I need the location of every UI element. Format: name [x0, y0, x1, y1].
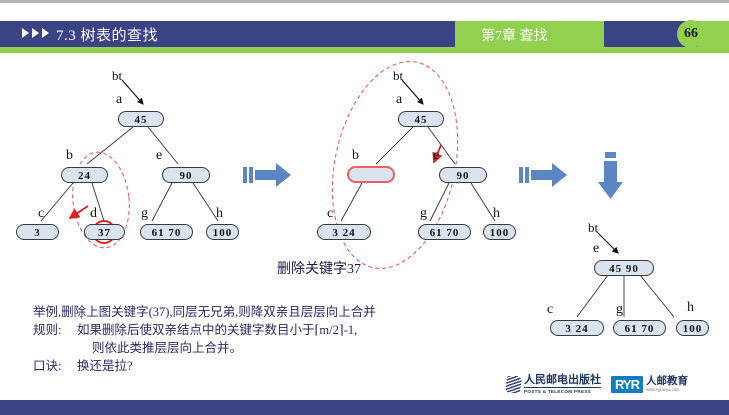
notes-example-text: 删除上图关键字(37),同层无兄弟,则降双亲且层层向上合并: [61, 305, 376, 319]
tree-middle-node-a: 45: [398, 111, 444, 127]
notes-rule-label: 规则:: [33, 321, 77, 339]
publisher-logo: 人民邮电出版社 POSTS & TELECOM PRESS: [506, 375, 601, 394]
page-title: 7.3 树表的查找: [56, 24, 158, 45]
notes-mnemonic-label: 口诀:: [33, 357, 77, 375]
tree-after-node-h: 100: [676, 320, 709, 336]
step-arrow-3: [598, 152, 623, 199]
notes-mnemonic-text: 换还是拉?: [77, 359, 133, 373]
page-number-badge: 66: [677, 20, 705, 48]
tree-before-node-label-h: h: [216, 206, 223, 222]
notes-example-label: 举例,: [33, 305, 61, 319]
notes-rule-text-1: 如果删除后使双亲结点中的关键字数目小于⌈m/2⌉-1,: [77, 323, 357, 337]
tree-after-pointer-label: bt: [588, 220, 598, 236]
right-triangle-icon: [22, 28, 29, 38]
tree-middle-node-g: 61 70: [418, 224, 471, 240]
bottom-bar: [0, 400, 729, 415]
tree-middle-pointer-label: bt: [393, 68, 403, 84]
tree-before-node-g: 61 70: [140, 224, 193, 240]
tree-before-node-b: 24: [61, 167, 108, 183]
notes-block: 举例,删除上图关键字(37),同层无兄弟,则降双亲且层层向上合并 规则:如果删除…: [33, 303, 503, 375]
tree-before-node-h: 100: [206, 224, 239, 240]
tree-after-node-label-g: g: [616, 302, 623, 318]
tree-middle-node-label-g: g: [420, 206, 427, 222]
tree-middle-node-label-c: c: [327, 206, 333, 222]
tree-after-node-label-e: e: [593, 241, 599, 257]
chapter-label: 第7章 查找: [481, 25, 548, 45]
tree-before-node-label-c: c: [38, 206, 44, 222]
header-underline: [0, 47, 729, 53]
tree-after-node-label-h: h: [687, 300, 694, 316]
tree-after-node-c: 3 24: [550, 320, 604, 336]
footer-logos: 人民邮电出版社 POSTS & TELECOM PRESS RYR 人邮教育 w…: [506, 375, 688, 394]
step-arrow-2: [519, 163, 567, 187]
tree-before-node-d: 37: [84, 224, 125, 240]
tree-before-node-label-e: e: [156, 148, 162, 164]
notes-rule-line-2: 则依此类推层层向上合并。: [33, 339, 503, 357]
notes-example-line: 举例,删除上图关键字(37),同层无兄弟,则降双亲且层层向上合并: [33, 303, 503, 321]
notes-rule-text-2: 则依此类推层层向上合并。: [92, 341, 242, 355]
top-divider: [0, 0, 729, 3]
notes-rule-line-1: 规则:如果删除后使双亲结点中的关键字数目小于⌈m/2⌉-1,: [33, 321, 503, 339]
tree-middle-node-label-e: e: [433, 148, 439, 164]
publisher-name-cn: 人民邮电出版社: [524, 375, 601, 388]
notes-mnemonic-line: 口诀:换还是拉?: [33, 357, 503, 375]
tree-middle-node-label-a: a: [396, 92, 402, 108]
publisher-name-en: POSTS & TELECOM PRESS: [524, 390, 601, 395]
tree-middle-node-label-b: b: [352, 148, 359, 164]
tree-before-pointer-label: bt: [112, 68, 122, 84]
tree-middle-node-label-h: h: [493, 206, 500, 222]
step-arrow-1: [243, 163, 291, 187]
tree-after-node-e: 45 90: [594, 260, 654, 276]
book-pages-icon: [505, 376, 522, 393]
education-site-url: www.ryjiaoyu.com: [646, 388, 688, 392]
tree-before-node-label-d: d: [90, 206, 97, 222]
slide-canvas: 7.3 树表的查找 第7章 查找 66: [0, 0, 729, 415]
tree-middle-node-c: 3 24: [317, 224, 371, 240]
publisher-logo-text: 人民邮电出版社 POSTS & TELECOM PRESS: [524, 375, 601, 394]
right-triangle-icon: [42, 28, 49, 38]
diagram-caption: 删除关键字37: [277, 258, 361, 278]
tree-middle-node-h: 100: [483, 224, 516, 240]
ryr-mark-icon: RYR: [611, 376, 643, 393]
education-name-cn: 人邮教育: [646, 377, 688, 388]
education-logo-text: 人邮教育 www.ryjiaoyu.com: [646, 377, 688, 393]
education-logo: RYR 人邮教育 www.ryjiaoyu.com: [611, 376, 688, 393]
tree-middle-node-b-empty: [347, 166, 395, 183]
tree-after-node-g: 61 70: [613, 320, 666, 336]
right-triangle-icon: [32, 28, 39, 38]
tree-middle-node-e: 90: [439, 167, 487, 183]
tree-before-node-c: 3: [16, 224, 59, 240]
tree-before-node-label-a: a: [116, 92, 122, 108]
triple-right-triangle-icon: [22, 28, 49, 38]
tree-before-node-label-g: g: [141, 206, 148, 222]
tree-after-node-label-c: c: [547, 302, 553, 318]
tree-before-node-label-b: b: [66, 148, 73, 164]
tree-before-node-a: 45: [118, 111, 164, 127]
tree-before-node-e: 90: [162, 167, 210, 183]
